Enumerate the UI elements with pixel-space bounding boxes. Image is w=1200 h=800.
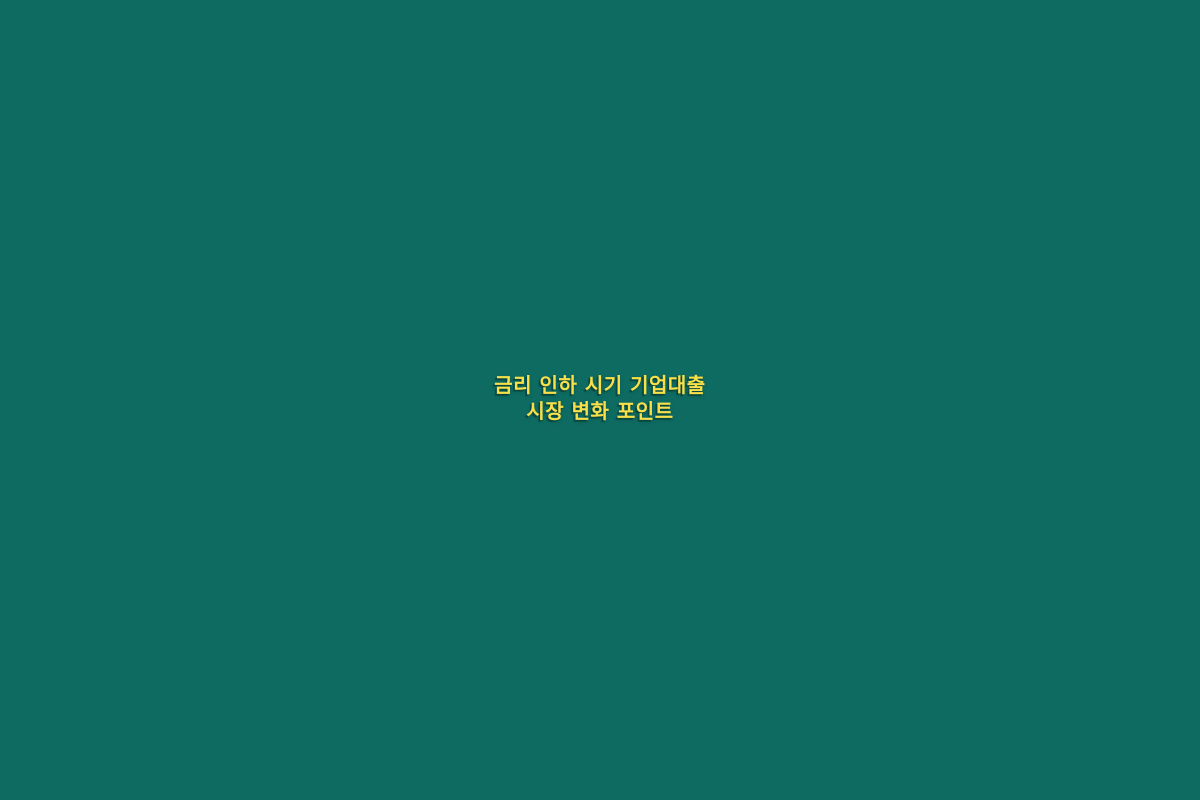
title-card: 금리 인하 시기 기업대출 시장 변화 포인트	[0, 0, 1200, 800]
headline-block: 금리 인하 시기 기업대출 시장 변화 포인트	[0, 372, 1200, 425]
headline-line-1: 금리 인하 시기 기업대출	[40, 372, 1160, 398]
headline-line-2: 시장 변화 포인트	[40, 398, 1160, 424]
